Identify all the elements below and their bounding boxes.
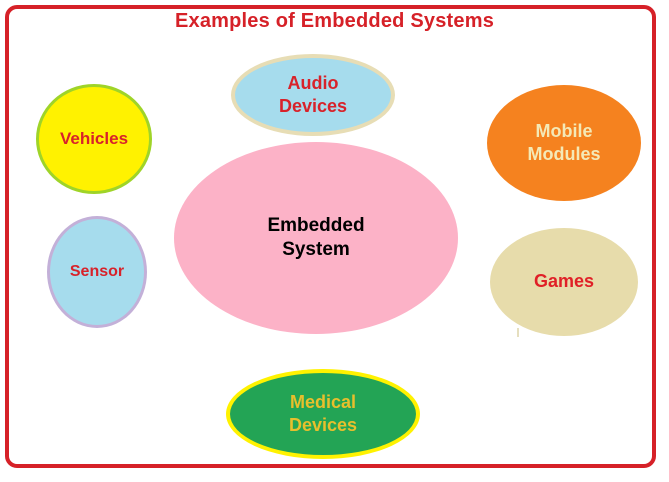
node-embedded-system[interactable]: Embedded System [174, 142, 458, 334]
node-medical-devices[interactable]: Medical Devices [226, 369, 420, 459]
node-audio-devices[interactable]: Audio Devices [231, 54, 395, 136]
node-mobile-modules-label: Mobile Modules [527, 120, 600, 166]
node-sensor-label: Sensor [70, 262, 124, 282]
node-games-label: Games [534, 270, 594, 293]
scan-artifact-mark [517, 328, 519, 337]
node-medical-devices-label: Medical Devices [289, 391, 357, 437]
node-games[interactable]: Games [490, 228, 638, 336]
node-embedded-system-label: Embedded System [267, 214, 364, 263]
diagram-title: Examples of Embedded Systems [0, 10, 669, 33]
node-vehicles[interactable]: Vehicles [36, 84, 152, 194]
node-vehicles-label: Vehicles [60, 128, 128, 150]
node-audio-devices-label: Audio Devices [279, 72, 347, 118]
node-mobile-modules[interactable]: Mobile Modules [487, 85, 641, 201]
diagram-canvas: Examples of Embedded Systems Embedded Sy… [0, 0, 669, 482]
node-sensor[interactable]: Sensor [47, 216, 147, 328]
